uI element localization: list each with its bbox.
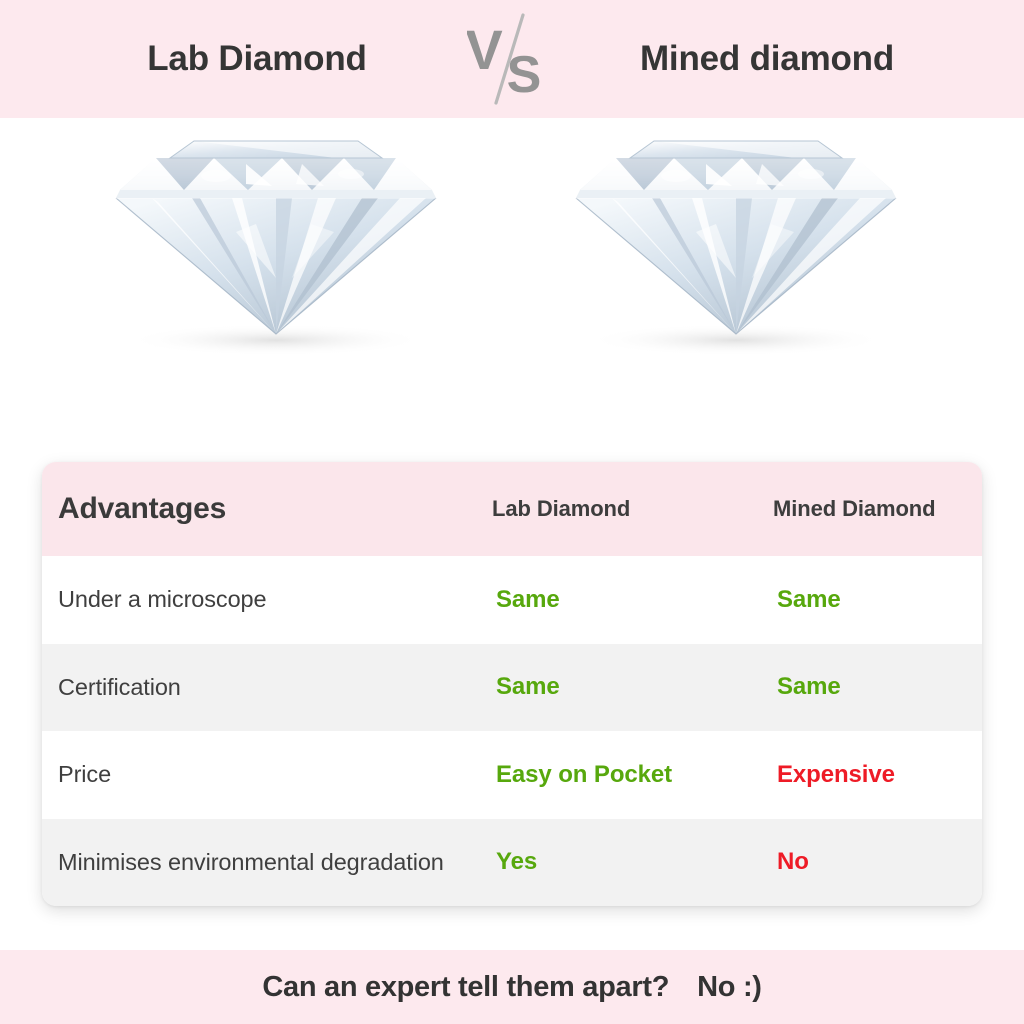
footer-text: Can an expert tell them apart? No :)	[262, 971, 761, 1004]
lab-diamond-image	[96, 128, 456, 428]
mined-diamond-image	[556, 128, 916, 428]
footer-band: Can an expert tell them apart? No :)	[0, 950, 1024, 1024]
diamond-image-area	[0, 118, 1024, 448]
row-value-mined: Expensive	[743, 761, 982, 789]
vs-icon: V S	[467, 9, 557, 109]
diamond-icon	[556, 128, 916, 428]
row-value-lab: Yes	[462, 848, 743, 876]
table-row: Certification Same Same	[42, 644, 982, 732]
row-label: Minimises environmental degradation	[42, 846, 462, 879]
row-label: Under a microscope	[42, 583, 462, 616]
column-header-lab-diamond: Lab Diamond	[462, 496, 743, 522]
row-value-lab: Same	[462, 673, 743, 701]
row-label: Price	[42, 758, 462, 791]
table-row: Minimises environmental degradation Yes …	[42, 819, 982, 907]
page-title-left: Lab Diamond	[47, 39, 467, 79]
vs-badge: V S	[467, 9, 557, 109]
infographic-page: Lab Diamond V S Mined diamond	[0, 0, 1024, 1024]
row-value-mined: Same	[743, 586, 982, 614]
row-value-mined: No	[743, 848, 982, 876]
page-title-right: Mined diamond	[557, 39, 977, 79]
row-value-lab: Same	[462, 586, 743, 614]
diamond-icon	[96, 128, 456, 428]
title-band: Lab Diamond V S Mined diamond	[0, 0, 1024, 118]
column-header-mined-diamond: Mined Diamond	[743, 496, 982, 522]
table-header-row: Advantages Lab Diamond Mined Diamond	[42, 462, 982, 556]
comparison-table-card: Advantages Lab Diamond Mined Diamond Und…	[42, 462, 982, 906]
title-row: Lab Diamond V S Mined diamond	[0, 0, 1024, 118]
column-header-advantages: Advantages	[42, 492, 462, 526]
row-value-lab: Easy on Pocket	[462, 761, 743, 789]
row-value-mined: Same	[743, 673, 982, 701]
svg-text:V: V	[467, 18, 503, 81]
table-row: Under a microscope Same Same	[42, 556, 982, 644]
table-row: Price Easy on Pocket Expensive	[42, 731, 982, 819]
footer-answer: No :)	[697, 971, 762, 1004]
row-label: Certification	[42, 671, 462, 704]
footer-question: Can an expert tell them apart?	[262, 971, 669, 1004]
